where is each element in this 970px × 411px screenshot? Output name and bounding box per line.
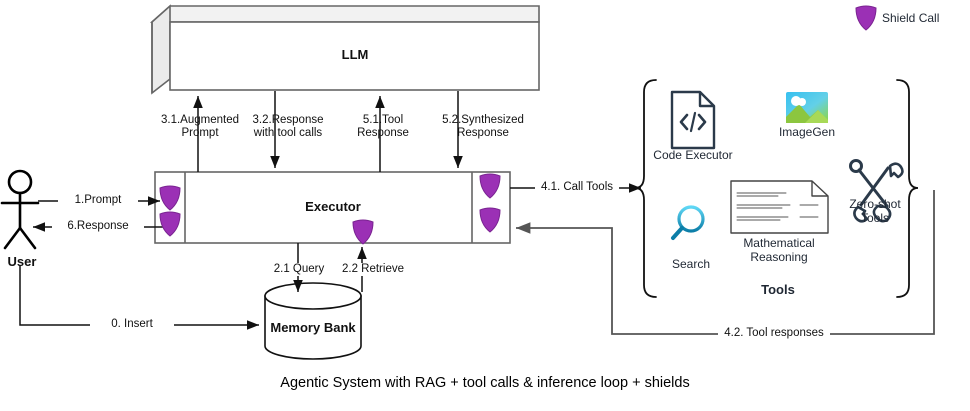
tool-label-code-executor[interactable]: Code Executor xyxy=(648,148,738,162)
edge-label-tool-responses: 4.2. Tool responses xyxy=(718,327,830,340)
tool-label-zero-shot-tools[interactable]: Zero-shot Tools xyxy=(838,197,912,225)
diagram-canvas: LLM Executor Memory Bank User 3.1.Augmen… xyxy=(0,0,970,411)
user-label: User xyxy=(0,255,44,268)
executor-label: Executor xyxy=(283,200,383,213)
edge-label-query: 2.1 Query xyxy=(266,263,332,276)
legend-shield-label: Shield Call xyxy=(882,11,968,25)
code-file-icon xyxy=(672,92,714,148)
edge-label-insert: 0. Insert xyxy=(90,318,174,331)
diagram-vector-layer xyxy=(0,0,970,411)
edge-label-prompt: 1.Prompt xyxy=(58,194,138,207)
edge-label-response-tool-calls: 3.2.Response with tool calls xyxy=(228,114,348,140)
edge-label-synthesized-response: 5.2.Synthesized Response xyxy=(424,114,542,140)
tool-label-imagegen[interactable]: ImageGen xyxy=(767,125,847,139)
edge-label-retrieve: 2.2 Retrieve xyxy=(334,263,412,276)
edge-label-call-tools: 4.1. Call Tools xyxy=(535,181,619,194)
edge-label-response: 6.Response xyxy=(52,220,144,233)
llm-label: LLM xyxy=(305,48,405,61)
edge-label-tool-response: 5.1.Tool Response xyxy=(337,114,429,140)
image-icon xyxy=(786,92,828,123)
magnifier-icon xyxy=(673,207,703,238)
memory-bank-label: Memory Bank xyxy=(263,321,363,334)
diagram-caption: Agentic System with RAG + tool calls & i… xyxy=(0,375,970,391)
edge-insert xyxy=(20,265,259,325)
tool-label-mathematical-reasoning[interactable]: Mathematical Reasoning xyxy=(726,236,832,264)
tool-label-search[interactable]: Search xyxy=(661,257,721,271)
tools-group-label: Tools xyxy=(735,283,821,297)
shield-icon-legend xyxy=(856,6,876,30)
user-actor[interactable] xyxy=(2,171,38,248)
formula-document-icon xyxy=(731,181,828,233)
